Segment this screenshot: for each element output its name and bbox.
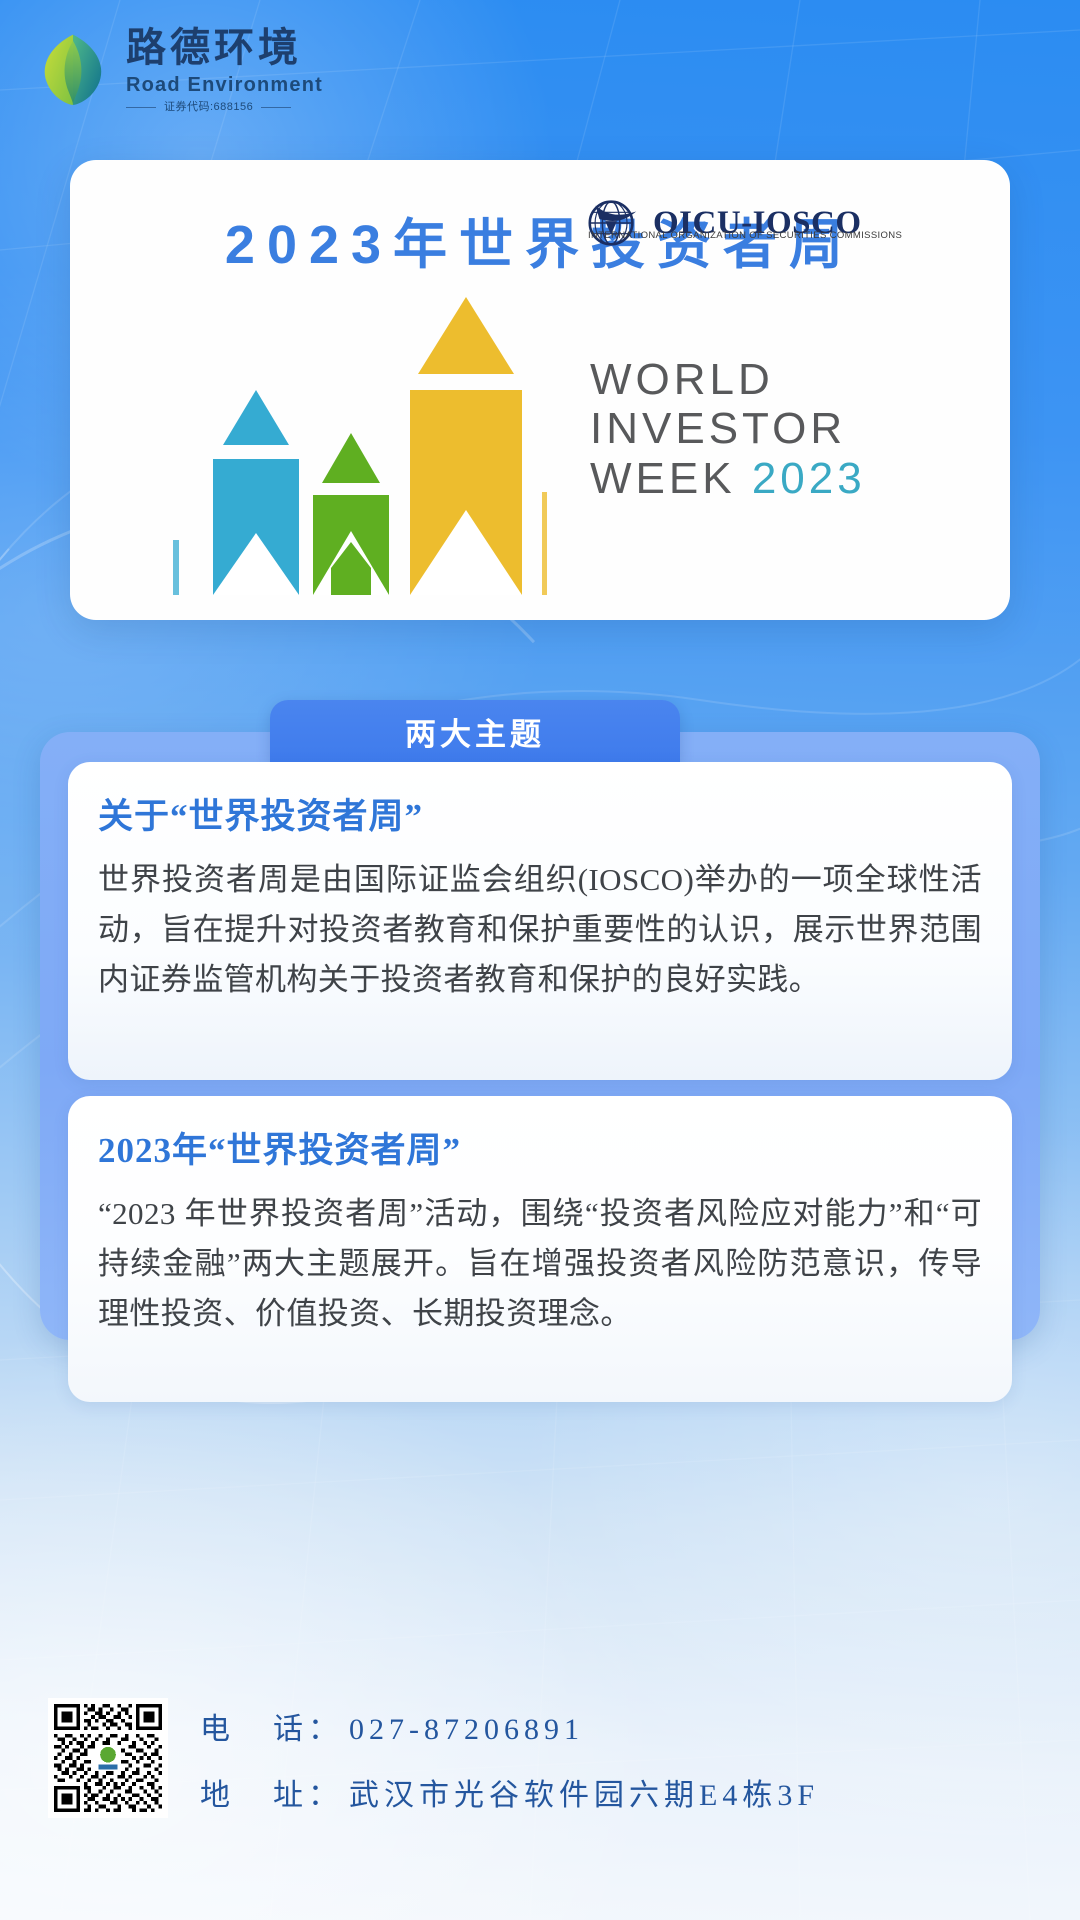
theme-card-heading: 2023年“世界投资者周” [98,1122,982,1173]
wiw-wordmark: WORLD INVESTOR WEEK 2023 [590,355,866,503]
themes-tab: 两大主题 [270,700,680,762]
theme-card-about: 关于“世界投资者周” 世界投资者周是由国际证监会组织(IOSCO)举办的一项全球… [68,762,1012,1080]
poster-root: 路德环境 Road Environment 证券代码:688156 2023年世… [0,0,1080,1920]
contact-info: 电话 ： 027-87206891 地址 ： 武汉市光谷软件园六期E4栋3F [200,1704,819,1836]
wiw-week-word: WEEK [590,454,736,503]
stock-code-text: 证券代码:688156 [164,102,253,113]
iosco-lockup: OICU-IOSCO [582,192,862,254]
wiw-line-week: WEEK 2023 [590,454,866,503]
footer: 电话 ： 027-87206891 地址 ： 武汉市光谷软件园六期E4栋3F [0,1690,1080,1870]
world-investor-week-pencils-logo-icon [70,278,1010,613]
contact-address-colon: ： [308,1770,343,1814]
brand-name-en: Road Environment [126,75,323,95]
contact-phone-value: 027-87206891 [349,1713,584,1747]
theme-card-body: 世界投资者周是由国际证监会组织(IOSCO)举办的一项全球性活动，旨在提升对投资… [98,855,982,1006]
contact-address-label: 地址 [200,1770,308,1814]
contact-phone-row: 电话 ： 027-87206891 [200,1704,819,1748]
brand-header: 路德环境 Road Environment 证券代码:688156 [34,24,323,113]
qr-code-image [54,1704,162,1812]
wiw-year: 2023 [752,454,866,503]
road-environment-leaf-logo-icon [34,30,112,108]
pencil-blue [173,390,299,595]
theme-card-heading: 关于“世界投资者周” [98,788,982,839]
wiw-line-investor: INVESTOR [590,404,866,453]
iosco-globe-icon [582,192,644,254]
qr-code-icon[interactable] [48,1698,168,1818]
contact-phone-label: 电话 [200,1704,308,1748]
divider-left [126,107,156,108]
brand-stock-code: 证券代码:688156 [126,102,323,113]
theme-card-2023: 2023年“世界投资者周” “2023 年世界投资者周”活动，围绕“投资者风险应… [68,1096,1012,1402]
iosco-subtitle: INTERNATIONAL ORGANIZATION OF SECURITIES… [588,230,902,241]
themes-tab-label: 两大主题 [405,709,545,754]
brand-name-cn: 路德环境 [126,28,323,68]
contact-address-row: 地址 ： 武汉市光谷软件园六期E4栋3F [200,1770,819,1814]
themes-section: 两大主题 关于“世界投资者周” 世界投资者周是由国际证监会组织(IOSCO)举办… [40,700,1040,1340]
pencil-yellow [410,297,547,595]
pencil-green [313,433,389,595]
divider-right [261,107,291,108]
contact-phone-colon: ： [308,1704,343,1748]
contact-address-value: 武汉市光谷软件园六期E4栋3F [349,1770,819,1814]
hero-card: 2023年世界投资者周 [70,160,1010,620]
theme-card-body: “2023 年世界投资者周”活动，围绕“投资者风险应对能力”和“可持续金融”两大… [98,1189,982,1340]
brand-text-block: 路德环境 Road Environment 证券代码:688156 [126,24,323,113]
wiw-line-world: WORLD [590,355,866,404]
